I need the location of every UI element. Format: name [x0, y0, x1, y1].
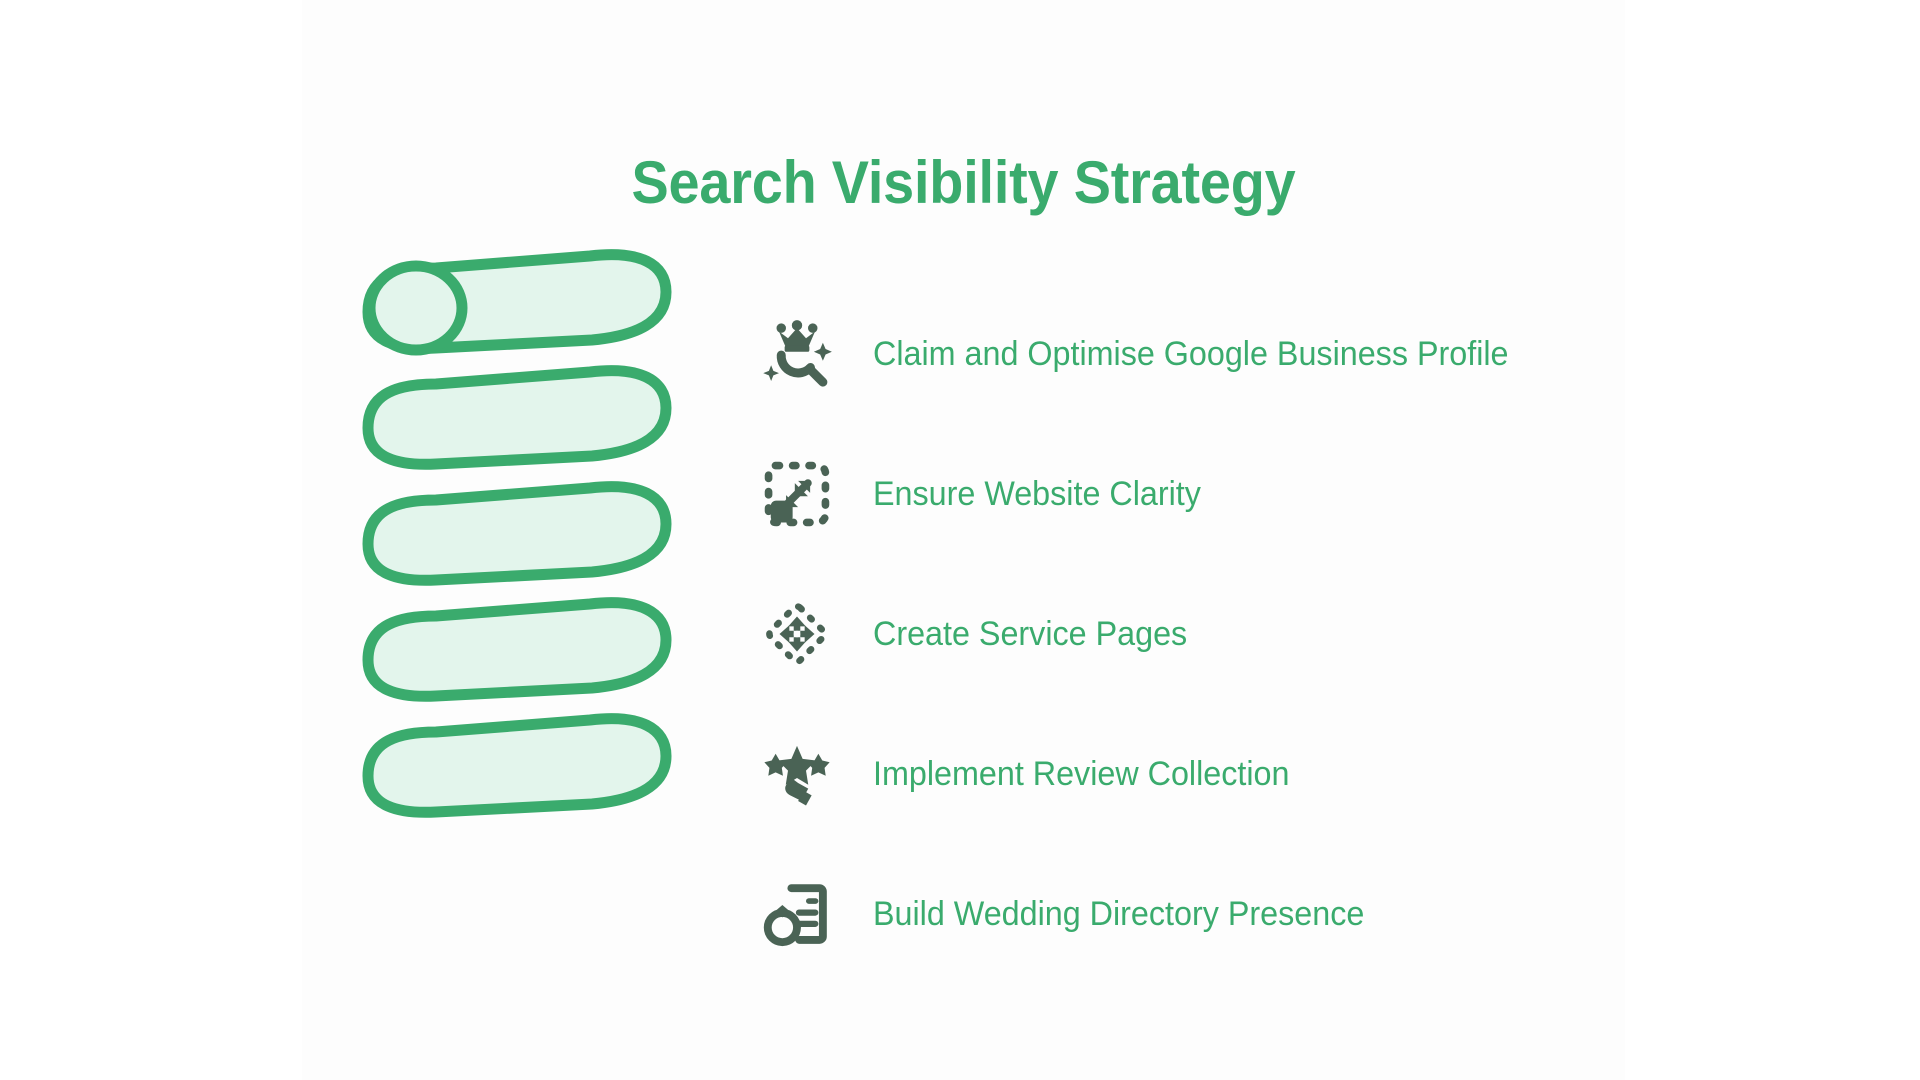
spiral-coil-graphic [340, 220, 700, 820]
three-stars-hand-icon [755, 732, 839, 816]
list-item[interactable]: Implement Review Collection [755, 704, 1595, 844]
list-item-label: Build Wedding Directory Presence [873, 897, 1364, 931]
dashed-frame-resize-arrow-icon [755, 452, 839, 536]
list-item-label: Create Service Pages [873, 617, 1187, 651]
coil-open-end [370, 266, 462, 350]
coil-turn-4 [368, 603, 666, 697]
coil-turn-3 [368, 487, 666, 581]
list-item-label: Implement Review Collection [873, 757, 1289, 791]
coil-turn-5 [368, 719, 666, 813]
strategy-step-list: Claim and Optimise Google Business Profi… [755, 284, 1595, 984]
dashed-diamond-four-arrows-icon [755, 592, 839, 676]
list-item-label: Claim and Optimise Google Business Profi… [873, 337, 1509, 371]
crown-magnifier-sparkle-icon [755, 312, 839, 396]
list-item[interactable]: Build Wedding Directory Presence [755, 844, 1595, 984]
coil-turn-2 [368, 371, 666, 465]
list-item[interactable]: Claim and Optimise Google Business Profi… [755, 284, 1595, 424]
slide: Search Visibility Strategy [0, 0, 1920, 1080]
ring-document-icon [755, 872, 839, 956]
list-item-label: Ensure Website Clarity [873, 477, 1201, 511]
list-item[interactable]: Create Service Pages [755, 564, 1595, 704]
page-title: Search Visibility Strategy [348, 148, 1578, 217]
list-item[interactable]: Ensure Website Clarity [755, 424, 1595, 564]
